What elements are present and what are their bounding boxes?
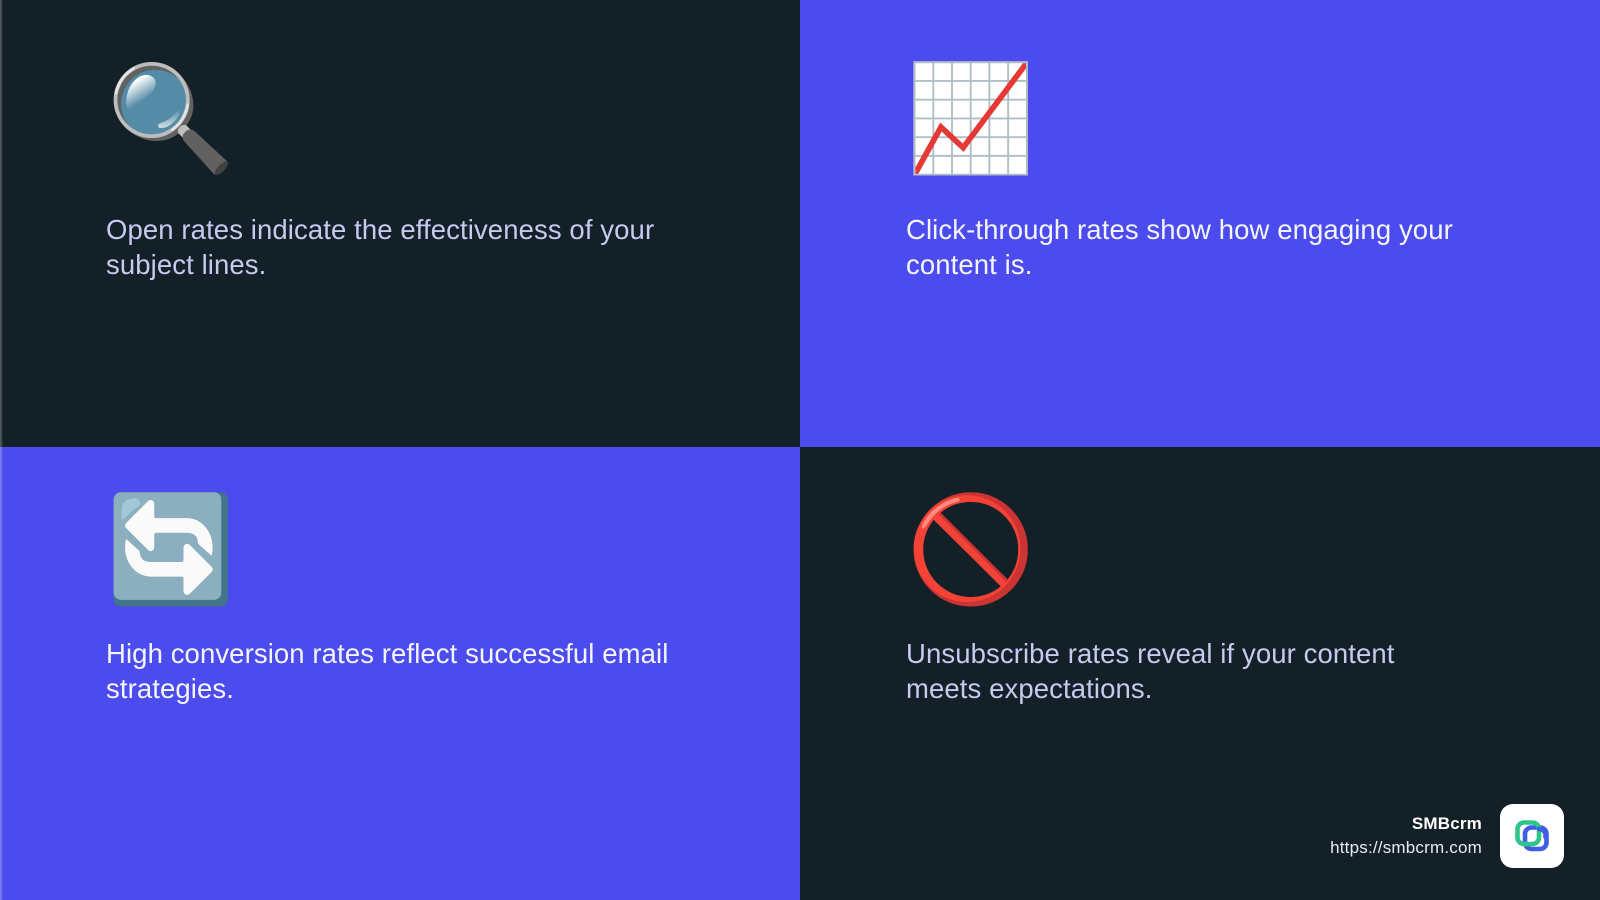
panel-open-rates-caption: Open rates indicate the effectiveness of…: [106, 213, 676, 282]
panel-conversion-rates-caption: High conversion rates reflect successful…: [106, 637, 676, 706]
magnifying-glass-icon: 🔍: [106, 58, 226, 178]
panel-conversion-rates: 🔄 High conversion rates reflect successf…: [0, 447, 800, 900]
panel-click-through-rates-caption: Click-through rates show how engaging yo…: [906, 213, 1476, 282]
branding: SMBcrm https://smbcrm.com: [1330, 804, 1564, 868]
brand-name: SMBcrm: [1330, 813, 1482, 835]
infographic-canvas: 🔍 Open rates indicate the effectiveness …: [0, 0, 1600, 900]
refresh-arrows-glyph: 🔄: [106, 497, 236, 601]
refresh-arrows-icon: 🔄: [106, 489, 226, 609]
panel-open-rates: 🔍 Open rates indicate the effectiveness …: [0, 0, 800, 450]
prohibited-icon: 🚫: [906, 489, 1026, 609]
smbcrm-logo: [1500, 804, 1564, 868]
brand-url[interactable]: https://smbcrm.com: [1330, 837, 1482, 859]
prohibited-glyph: 🚫: [906, 497, 1036, 601]
panel-click-through-rates: 📈 Click-through rates show how engaging …: [800, 0, 1600, 450]
chart-increasing-icon: 📈: [906, 58, 1026, 178]
chart-increasing-glyph: 📈: [906, 66, 1036, 170]
panel-unsubscribe-rates-caption: Unsubscribe rates reveal if your content…: [906, 637, 1476, 706]
branding-text: SMBcrm https://smbcrm.com: [1330, 813, 1482, 860]
panel-unsubscribe-rates: 🚫 Unsubscribe rates reveal if your conte…: [800, 447, 1600, 900]
magnifying-glass-glyph: 🔍: [106, 66, 236, 170]
